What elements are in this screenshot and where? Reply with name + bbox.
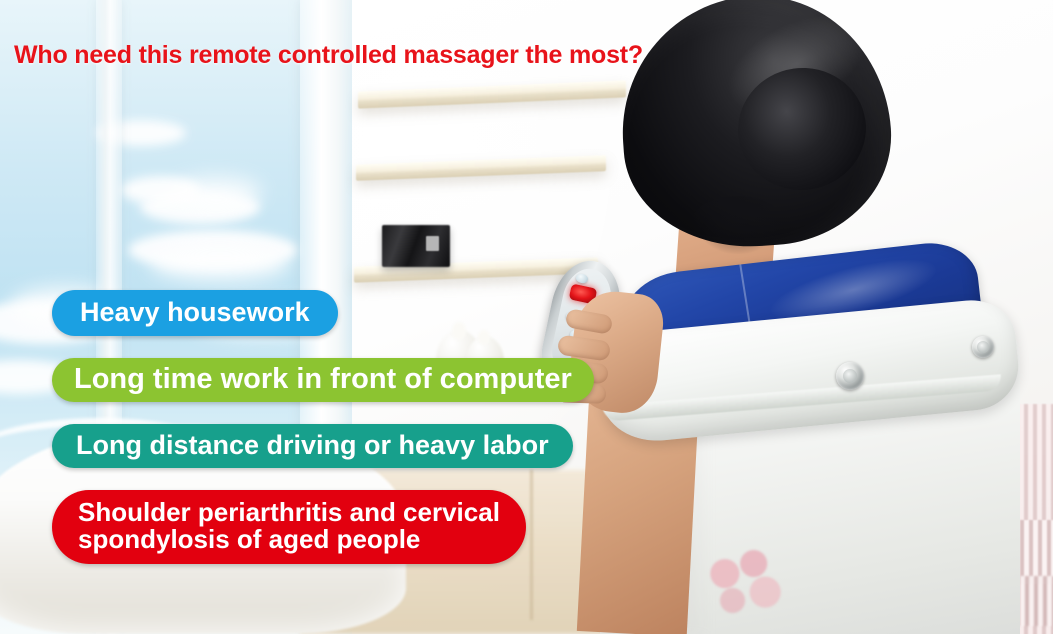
- shirt-floral-print: [698, 540, 794, 624]
- shelf-decor-box: [382, 225, 450, 267]
- shelf-decor-box-label: [426, 236, 439, 251]
- badge-heavy-housework[interactable]: Heavy housework: [52, 290, 338, 336]
- badge-long-distance-driving[interactable]: Long distance driving or heavy labor: [52, 424, 573, 468]
- massager-snap-button-left[interactable]: [836, 362, 864, 390]
- badge-row-1: Heavy housework: [52, 290, 594, 336]
- badge-shoulder-periarthritis[interactable]: Shoulder periarthritis and cervical spon…: [52, 490, 526, 564]
- nape-hairline: [690, 196, 786, 254]
- benefit-badge-list: Heavy housework Long time work in front …: [52, 290, 594, 586]
- promo-image: Who need this remote controlled massager…: [0, 0, 1053, 634]
- badge-row-4: Shoulder periarthritis and cervical spon…: [52, 490, 594, 564]
- badge-long-time-computer-work[interactable]: Long time work in front of computer: [52, 358, 594, 402]
- badge-row-3: Long distance driving or heavy labor: [52, 424, 594, 468]
- massager-snap-button-right[interactable]: [972, 336, 994, 358]
- shoulder-massager: [600, 250, 1053, 480]
- page-title: Who need this remote controlled massager…: [14, 41, 643, 70]
- badge-row-2: Long time work in front of computer: [52, 358, 594, 402]
